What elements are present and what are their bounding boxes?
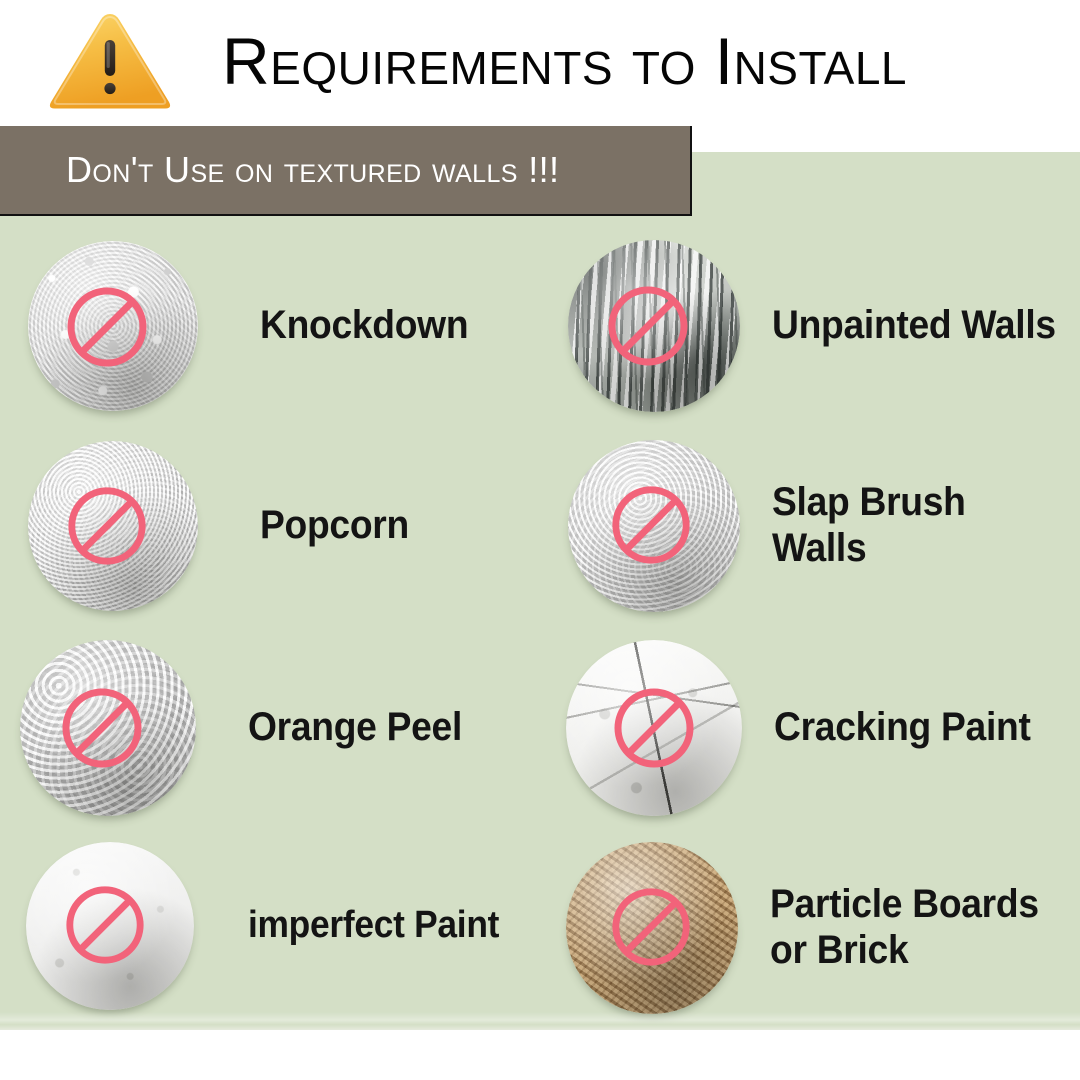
list-item-label: imperfect Paint [248, 904, 499, 947]
list-item-label: Knockdown [260, 303, 468, 349]
cracking-paint-texture-swatch [566, 640, 742, 816]
list-item: imperfect Paint [26, 842, 548, 1010]
unpainted-wall-texture-swatch [568, 240, 740, 412]
imperfect-paint-texture-swatch [26, 842, 194, 1010]
list-item-label: Cracking Paint [774, 705, 1031, 751]
particle-board-texture-swatch [566, 842, 738, 1014]
list-item-label: Slap Brush Walls [772, 480, 1058, 571]
list-item: Particle Boards or Brick [566, 842, 1080, 1014]
list-item-label: Particle Boards or Brick [770, 882, 1045, 973]
list-item: Popcorn [28, 440, 548, 612]
list-item-label: Orange Peel [248, 705, 462, 751]
knockdown-texture-swatch [28, 241, 198, 411]
list-item: Unpainted Walls [568, 240, 1080, 412]
warning-banner: Don't Use on textured walls !!! [0, 126, 692, 216]
list-item: Orange Peel [20, 640, 548, 816]
page-title: Requirements to Install [222, 16, 1022, 106]
list-item: Slap Brush Walls [568, 440, 1080, 612]
orange-peel-texture-swatch [20, 640, 196, 816]
warning-triangle-icon [46, 8, 174, 112]
slap-brush-texture-swatch [568, 440, 740, 612]
content-panel: Knockdown Unpainted Walls [0, 152, 1080, 1030]
popcorn-texture-swatch [28, 441, 198, 611]
list-item-label: Popcorn [260, 503, 409, 549]
warning-banner-text: Don't Use on textured walls !!! [66, 126, 559, 214]
list-item: Knockdown [28, 240, 548, 412]
panel-bottom-sheen [0, 1012, 1080, 1030]
list-item: Cracking Paint [566, 640, 1080, 816]
header: Requirements to Install [0, 0, 1080, 126]
infographic-page: Requirements to Install Knockdown [0, 0, 1080, 1080]
list-item-label: Unpainted Walls [772, 303, 1056, 349]
